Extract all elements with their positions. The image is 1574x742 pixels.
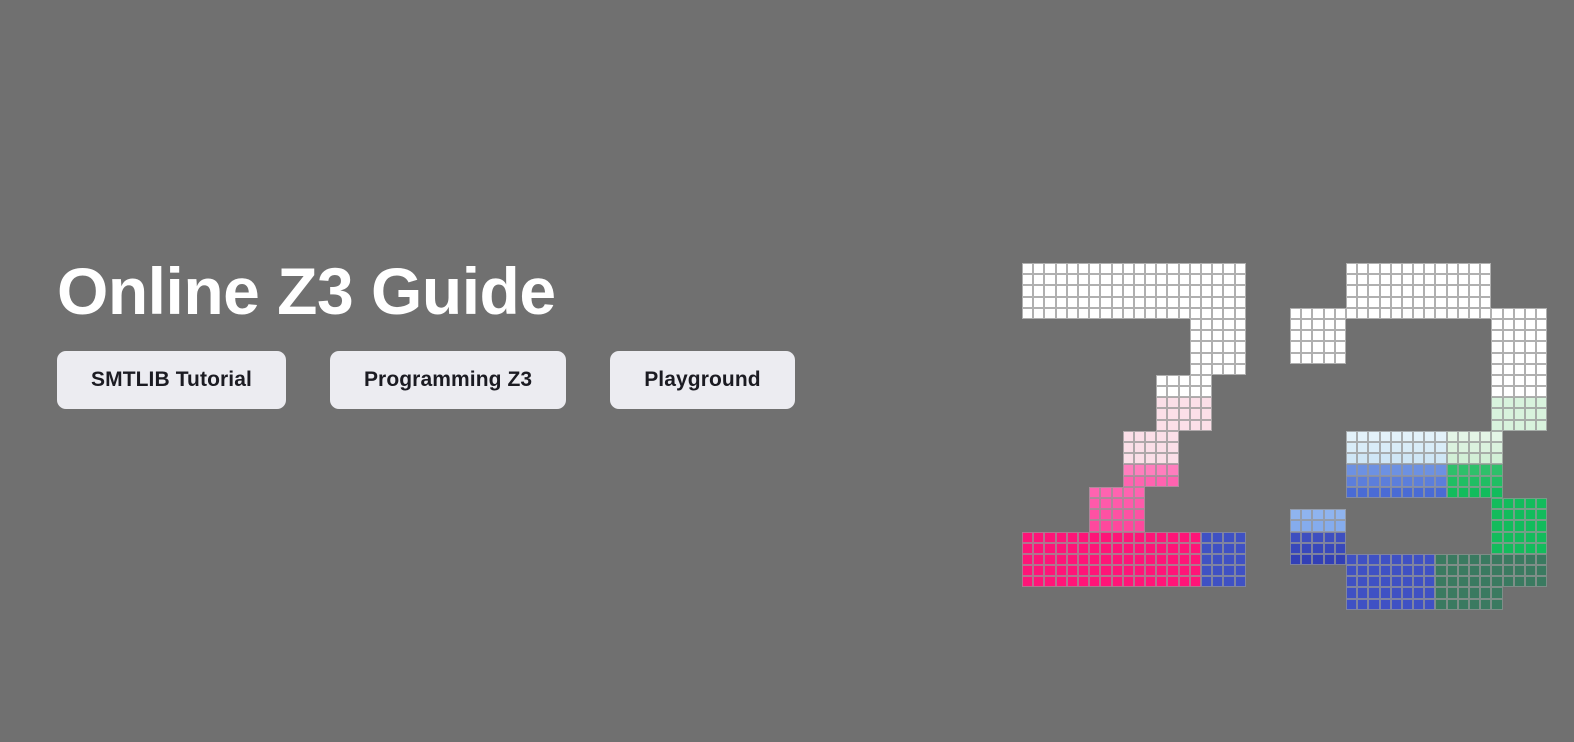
logo-pixel-cell (1458, 297, 1469, 308)
logo-pixel-cell (1078, 408, 1089, 419)
logo-pixel-cell (1145, 285, 1156, 296)
smtlib-tutorial-button[interactable]: SMTLIB Tutorial (57, 351, 286, 409)
logo-pixel-cell (1357, 476, 1368, 487)
logo-pixel-cell (1346, 319, 1357, 330)
logo-pixel-cell (1380, 285, 1391, 296)
logo-pixel-cell (1447, 543, 1458, 554)
logo-pixel-cell (1190, 554, 1201, 565)
logo-pixel-cell (1447, 330, 1458, 341)
logo-pixel-cell (1167, 408, 1178, 419)
logo-pixel-cell (1201, 364, 1212, 375)
logo-pixel-cell (1201, 319, 1212, 330)
logo-pixel-cell (1301, 532, 1312, 543)
logo-pixel-cell (1503, 364, 1514, 375)
logo-pixel-cell (1480, 587, 1491, 598)
logo-pixel-cell (1056, 408, 1067, 419)
logo-pixel-cell (1033, 554, 1044, 565)
logo-pixel-cell (1167, 274, 1178, 285)
logo-pixel-cell (1123, 364, 1134, 375)
logo-pixel-cell (1167, 442, 1178, 453)
logo-pixel-cell (1201, 341, 1212, 352)
logo-pixel-cell (1212, 397, 1223, 408)
logo-pixel-cell (1312, 420, 1323, 431)
logo-pixel-cell (1491, 576, 1502, 587)
logo-pixel-cell (1301, 464, 1312, 475)
logo-pixel-cell (1525, 431, 1536, 442)
logo-pixel-cell (1067, 274, 1078, 285)
logo-pixel-cell (1491, 431, 1502, 442)
logo-pixel-cell (1312, 520, 1323, 531)
logo-pixel-cell (1179, 408, 1190, 419)
logo-pixel-cell (1503, 431, 1514, 442)
logo-pixel-cell (1033, 532, 1044, 543)
logo-pixel-cell (1435, 431, 1446, 442)
logo-pixel-cell (1447, 408, 1458, 419)
logo-pixel-cell (1402, 297, 1413, 308)
logo-pixel-cell (1134, 386, 1145, 397)
logo-pixel-cell (1033, 520, 1044, 531)
logo-pixel-cell (1190, 476, 1201, 487)
logo-pixel-cell (1201, 431, 1212, 442)
logo-pixel-cell (1503, 476, 1514, 487)
logo-pixel-cell (1346, 599, 1357, 610)
logo-pixel-cell (1056, 285, 1067, 296)
logo-pixel-cell (1100, 420, 1111, 431)
logo-pixel-cell (1335, 330, 1346, 341)
logo-pixel-cell (1514, 543, 1525, 554)
logo-pixel-cell (1201, 420, 1212, 431)
logo-pixel-cell (1134, 487, 1145, 498)
logo-pixel-cell (1391, 397, 1402, 408)
logo-pixel-cell (1179, 375, 1190, 386)
logo-pixel-cell (1346, 520, 1357, 531)
logo-pixel-cell (1223, 263, 1234, 274)
logo-pixel-cell (1044, 375, 1055, 386)
logo-pixel-cell (1100, 308, 1111, 319)
logo-pixel-cell (1123, 532, 1134, 543)
logo-pixel-cell (1044, 487, 1055, 498)
logo-pixel-cell (1123, 408, 1134, 419)
logo-pixel-cell (1480, 386, 1491, 397)
logo-pixel-cell (1033, 408, 1044, 419)
logo-pixel-cell (1536, 431, 1547, 442)
logo-pixel-cell (1201, 520, 1212, 531)
logo-pixel-cell (1491, 487, 1502, 498)
logo-pixel-cell (1324, 364, 1335, 375)
logo-pixel-cell (1089, 487, 1100, 498)
logo-pixel-cell (1424, 353, 1435, 364)
logo-pixel-cell (1100, 386, 1111, 397)
logo-pixel-cell (1503, 285, 1514, 296)
logo-pixel-cell (1391, 587, 1402, 598)
logo-pixel-cell (1167, 263, 1178, 274)
logo-pixel-cell (1525, 297, 1536, 308)
logo-pixel-cell (1201, 554, 1212, 565)
logo-pixel-cell (1156, 274, 1167, 285)
logo-pixel-cell (1067, 397, 1078, 408)
logo-pixel-cell (1402, 330, 1413, 341)
logo-pixel-cell (1301, 476, 1312, 487)
logo-pixel-cell (1167, 297, 1178, 308)
logo-pixel-cell (1022, 487, 1033, 498)
logo-pixel-cell (1525, 274, 1536, 285)
logo-pixel-cell (1190, 263, 1201, 274)
logo-pixel-cell (1536, 274, 1547, 285)
logo-pixel-cell (1368, 554, 1379, 565)
logo-pixel-cell (1022, 341, 1033, 352)
logo-pixel-cell (1536, 442, 1547, 453)
logo-pixel-cell (1469, 509, 1480, 520)
logo-pixel-cell (1301, 364, 1312, 375)
logo-pixel-cell (1368, 274, 1379, 285)
logo-pixel-cell (1089, 442, 1100, 453)
logo-pixel-cell (1123, 420, 1134, 431)
logo-pixel-cell (1536, 487, 1547, 498)
logo-pixel-cell (1469, 476, 1480, 487)
logo-pixel-cell (1335, 509, 1346, 520)
logo-pixel-cell (1145, 420, 1156, 431)
logo-pixel-cell (1536, 397, 1547, 408)
logo-pixel-cell (1067, 543, 1078, 554)
logo-pixel-cell (1167, 520, 1178, 531)
logo-pixel-cell (1167, 308, 1178, 319)
logo-pixel-cell (1503, 498, 1514, 509)
logo-pixel-cell (1491, 330, 1502, 341)
logo-pixel-cell (1335, 587, 1346, 598)
logo-pixel-cell (1312, 464, 1323, 475)
logo-pixel-cell (1033, 308, 1044, 319)
logo-pixel-cell (1078, 274, 1089, 285)
logo-pixel-cell (1201, 576, 1212, 587)
logo-pixel-cell (1503, 386, 1514, 397)
logo-pixel-cell (1167, 420, 1178, 431)
logo-pixel-cell (1469, 386, 1480, 397)
logo-pixel-cell (1089, 509, 1100, 520)
logo-pixel-cell (1235, 364, 1246, 375)
logo-pixel-cell (1391, 386, 1402, 397)
logo-pixel-cell (1391, 297, 1402, 308)
logo-pixel-cell (1145, 353, 1156, 364)
logo-pixel-cell (1123, 308, 1134, 319)
logo-pixel-cell (1391, 476, 1402, 487)
logo-pixel-cell (1413, 353, 1424, 364)
logo-pixel-cell (1134, 554, 1145, 565)
logo-pixel-cell (1514, 599, 1525, 610)
logo-pixel-cell (1123, 274, 1134, 285)
logo-pixel-cell (1078, 420, 1089, 431)
logo-pixel-cell (1525, 498, 1536, 509)
logo-pixel-cell (1089, 386, 1100, 397)
logo-pixel-cell (1391, 408, 1402, 419)
logo-pixel-cell (1301, 487, 1312, 498)
logo-pixel-cell (1301, 576, 1312, 587)
logo-pixel-cell (1435, 308, 1446, 319)
logo-pixel-cell (1044, 464, 1055, 475)
logo-pixel-cell (1167, 375, 1178, 386)
logo-pixel-cell (1156, 554, 1167, 565)
logo-pixel-cell (1357, 353, 1368, 364)
logo-pixel-cell (1201, 386, 1212, 397)
logo-pixel-cell (1424, 386, 1435, 397)
logo-pixel-cell (1235, 520, 1246, 531)
logo-pixel-cell (1078, 341, 1089, 352)
logo-pixel-cell (1480, 308, 1491, 319)
logo-pixel-cell (1179, 442, 1190, 453)
logo-pixel-cell (1033, 330, 1044, 341)
logo-pixel-cell (1223, 420, 1234, 431)
logo-pixel-cell (1435, 554, 1446, 565)
logo-pixel-cell (1536, 543, 1547, 554)
logo-pixel-cell (1223, 532, 1234, 543)
logo-pixel-cell (1435, 263, 1446, 274)
logo-pixel-cell (1435, 587, 1446, 598)
logo-pixel-cell (1536, 453, 1547, 464)
logo-pixel-cell (1100, 431, 1111, 442)
logo-pixel-cell (1402, 431, 1413, 442)
logo-pixel-cell (1469, 554, 1480, 565)
logo-pixel-cell (1123, 431, 1134, 442)
logo-pixel-cell (1503, 464, 1514, 475)
logo-pixel-cell (1290, 285, 1301, 296)
logo-pixel-cell (1134, 453, 1145, 464)
logo-pixel-cell (1536, 297, 1547, 308)
logo-pixel-cell (1458, 599, 1469, 610)
logo-pixel-cell (1223, 453, 1234, 464)
logo-pixel-cell (1335, 274, 1346, 285)
logo-pixel-cell (1290, 386, 1301, 397)
logo-pixel-cell (1301, 442, 1312, 453)
logo-pixel-cell (1491, 308, 1502, 319)
logo-pixel-cell (1335, 442, 1346, 453)
logo-pixel-cell (1346, 353, 1357, 364)
logo-pixel-cell (1368, 587, 1379, 598)
logo-pixel-cell (1156, 464, 1167, 475)
logo-pixel-cell (1424, 554, 1435, 565)
logo-pixel-cell (1212, 532, 1223, 543)
logo-pixel-cell (1167, 543, 1178, 554)
logo-pixel-cell (1212, 353, 1223, 364)
logo-pixel-cell (1067, 341, 1078, 352)
logo-pixel-cell (1335, 476, 1346, 487)
logo-pixel-cell (1491, 319, 1502, 330)
logo-pixel-cell (1033, 364, 1044, 375)
logo-pixel-cell (1235, 442, 1246, 453)
logo-pixel-cell (1357, 453, 1368, 464)
logo-pixel-cell (1536, 532, 1547, 543)
logo-pixel-cell (1201, 509, 1212, 520)
logo-pixel-cell (1335, 543, 1346, 554)
logo-pixel-cell (1179, 319, 1190, 330)
logo-pixel-cell (1469, 565, 1480, 576)
logo-pixel-cell (1290, 520, 1301, 531)
logo-pixel-cell (1078, 576, 1089, 587)
logo-pixel-cell (1235, 375, 1246, 386)
logo-pixel-cell (1458, 274, 1469, 285)
logo-pixel-cell (1235, 308, 1246, 319)
logo-pixel-cell (1100, 353, 1111, 364)
logo-pixel-cell (1301, 498, 1312, 509)
logo-pixel-cell (1145, 532, 1156, 543)
logo-pixel-cell (1413, 341, 1424, 352)
logo-pixel-cell (1223, 520, 1234, 531)
logo-pixel-cell (1413, 319, 1424, 330)
programming-z3-button[interactable]: Programming Z3 (330, 351, 566, 409)
logo-pixel-cell (1301, 565, 1312, 576)
logo-pixel-cell (1301, 341, 1312, 352)
logo-pixel-cell (1536, 408, 1547, 419)
logo-pixel-cell (1056, 319, 1067, 330)
logo-pixel-cell (1301, 420, 1312, 431)
logo-pixel-cell (1335, 353, 1346, 364)
logo-pixel-cell (1335, 453, 1346, 464)
logo-pixel-cell (1458, 487, 1469, 498)
logo-pixel-cell (1447, 397, 1458, 408)
logo-pixel-cell (1044, 353, 1055, 364)
logo-pixel-cell (1290, 263, 1301, 274)
logo-pixel-cell (1179, 554, 1190, 565)
logo-pixel-cell (1424, 285, 1435, 296)
logo-pixel-cell (1145, 274, 1156, 285)
logo-pixel-cell (1469, 464, 1480, 475)
logo-pixel-cell (1391, 565, 1402, 576)
logo-pixel-cell (1335, 386, 1346, 397)
logo-pixel-cell (1022, 532, 1033, 543)
logo-pixel-cell (1413, 487, 1424, 498)
logo-pixel-cell (1156, 543, 1167, 554)
logo-pixel-cell (1089, 375, 1100, 386)
logo-pixel-cell (1190, 576, 1201, 587)
logo-pixel-cell (1022, 285, 1033, 296)
logo-pixel-cell (1491, 274, 1502, 285)
logo-pixel-cell (1056, 330, 1067, 341)
logo-pixel-cell (1067, 453, 1078, 464)
logo-pixel-cell (1402, 341, 1413, 352)
logo-pixel-cell (1391, 442, 1402, 453)
logo-pixel-cell (1044, 319, 1055, 330)
logo-pixel-cell (1290, 364, 1301, 375)
logo-pixel-cell (1335, 308, 1346, 319)
logo-pixel-cell (1312, 375, 1323, 386)
logo-pixel-cell (1223, 341, 1234, 352)
logo-pixel-cell (1380, 375, 1391, 386)
logo-pixel-cell (1324, 442, 1335, 453)
logo-pixel-cell (1335, 408, 1346, 419)
playground-button[interactable]: Playground (610, 351, 795, 409)
logo-pixel-cell (1145, 464, 1156, 475)
logo-pixel-cell (1145, 297, 1156, 308)
logo-pixel-cell (1391, 319, 1402, 330)
logo-pixel-cell (1179, 364, 1190, 375)
logo-pixel-cell (1525, 520, 1536, 531)
logo-pixel-cell (1290, 297, 1301, 308)
logo-pixel-cell (1368, 330, 1379, 341)
z3-pixel-logo (1022, 263, 1522, 583)
logo-pixel-cell (1067, 520, 1078, 531)
hero-text-block: Online Z3 Guide SMTLIB Tutorial Programm… (57, 258, 977, 409)
logo-pixel-cell (1156, 364, 1167, 375)
logo-pixel-cell (1212, 565, 1223, 576)
logo-pixel-cell (1123, 498, 1134, 509)
logo-pixel-cell (1145, 498, 1156, 509)
logo-pixel-cell (1536, 375, 1547, 386)
logo-pixel-cell (1112, 431, 1123, 442)
logo-pixel-cell (1056, 341, 1067, 352)
logo-pixel-cell (1044, 576, 1055, 587)
logo-pixel-cell (1100, 509, 1111, 520)
logo-pixel-cell (1458, 353, 1469, 364)
logo-pixel-cell (1112, 319, 1123, 330)
logo-pixel-cell (1190, 520, 1201, 531)
logo-pixel-cell (1380, 308, 1391, 319)
logo-pixel-cell (1056, 431, 1067, 442)
logo-pixel-cell (1290, 353, 1301, 364)
logo-pixel-cell (1145, 375, 1156, 386)
logo-pixel-cell (1078, 319, 1089, 330)
logo-pixel-cell (1335, 498, 1346, 509)
logo-pixel-cell (1357, 442, 1368, 453)
logo-pixel-cell (1112, 397, 1123, 408)
logo-pixel-cell (1391, 487, 1402, 498)
logo-pixel-cell (1536, 319, 1547, 330)
logo-pixel-cell (1413, 565, 1424, 576)
logo-pixel-cell (1368, 565, 1379, 576)
logo-pixel-cell (1346, 532, 1357, 543)
logo-pixel-cell (1391, 431, 1402, 442)
logo-pixel-cell (1235, 330, 1246, 341)
logo-pixel-cell (1223, 498, 1234, 509)
logo-pixel-cell (1402, 263, 1413, 274)
logo-pixel-cell (1368, 453, 1379, 464)
logo-pixel-cell (1056, 498, 1067, 509)
logo-pixel-cell (1078, 476, 1089, 487)
logo-pixel-cell (1402, 554, 1413, 565)
logo-pixel-cell (1469, 274, 1480, 285)
logo-pixel-cell (1480, 274, 1491, 285)
logo-pixel-cell (1380, 274, 1391, 285)
logo-pixel-cell (1447, 576, 1458, 587)
logo-pixel-cell (1380, 330, 1391, 341)
logo-pixel-cell (1346, 587, 1357, 598)
logo-pixel-cell (1044, 397, 1055, 408)
logo-pixel-cell (1469, 487, 1480, 498)
logo-pixel-cell (1380, 408, 1391, 419)
logo-pixel-cell (1134, 565, 1145, 576)
logo-pixel-cell (1346, 464, 1357, 475)
logo-pixel-cell (1324, 509, 1335, 520)
logo-pixel-cell (1514, 520, 1525, 531)
logo-pixel-cell (1312, 285, 1323, 296)
logo-pixel-cell (1447, 308, 1458, 319)
logo-pixel-cell (1290, 330, 1301, 341)
logo-pixel-cell (1156, 319, 1167, 330)
logo-pixel-cell (1301, 397, 1312, 408)
logo-pixel-cell (1402, 476, 1413, 487)
logo-pixel-cell (1067, 487, 1078, 498)
logo-glyph-z (1022, 263, 1246, 587)
logo-pixel-cell (1357, 532, 1368, 543)
logo-pixel-cell (1413, 386, 1424, 397)
logo-pixel-cell (1357, 554, 1368, 565)
logo-pixel-cell (1391, 576, 1402, 587)
hero-section: Online Z3 Guide SMTLIB Tutorial Programm… (0, 0, 1574, 742)
logo-pixel-cell (1212, 543, 1223, 554)
logo-pixel-cell (1335, 420, 1346, 431)
logo-pixel-cell (1156, 330, 1167, 341)
logo-pixel-cell (1536, 386, 1547, 397)
logo-pixel-cell (1212, 274, 1223, 285)
logo-pixel-cell (1112, 420, 1123, 431)
logo-pixel-cell (1223, 464, 1234, 475)
